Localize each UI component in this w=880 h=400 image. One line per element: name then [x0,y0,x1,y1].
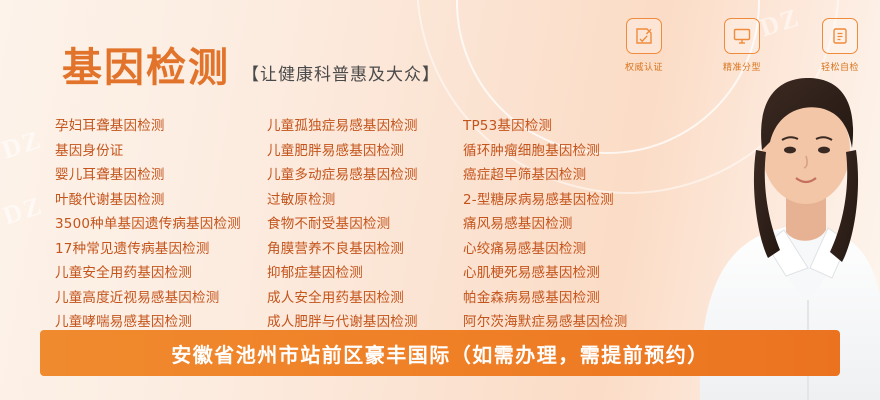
badge-item: 权威认证 [612,18,676,73]
list-item: 帕金森病易感基因检测 [463,286,675,311]
service-list: 孕妇耳聋基因检测 基因身份证 婴儿耳聋基因检测 叶酸代谢基因检测 3500种单基… [55,114,675,359]
list-item: TP53基因检测 [463,114,675,139]
badge-label: 轻松自检 [808,60,872,73]
list-item: 抑郁症基因检测 [267,261,463,286]
poster-canvas: DZ DZ DZ DZ 基因检测 【让健康科普惠及大众】 权威认证 [0,0,880,400]
badge-label: 精准分型 [710,60,774,73]
list-item: 角膜营养不良基因检测 [267,237,463,262]
list-item: 儿童孤独症易感基因检测 [267,114,463,139]
address-text: 安徽省池州市站前区豪丰国际（如需办理，需提前预约） [171,339,709,368]
page-subtitle: 【让健康科普惠及大众】 [242,60,440,88]
list-item: 叶酸代谢基因检测 [55,188,267,213]
page-title: 基因检测 [62,48,230,88]
list-item: 过敏原检测 [267,188,463,213]
badge-item: 轻松自检 [808,18,872,73]
list-item: 成人安全用药基因检测 [267,286,463,311]
service-column-2: 儿童孤独症易感基因检测 儿童肥胖易感基因检测 儿童多动症易感基因检测 过敏原检测… [267,114,463,359]
list-item: 3500种单基因遗传病基因检测 [55,212,267,237]
list-item: 痛风易感基因检测 [463,212,675,237]
clipboard-check-icon [822,18,858,54]
list-item: 心绞痛易感基因检测 [463,237,675,262]
list-item: 心肌梗死易感基因检测 [463,261,675,286]
certificate-icon [626,18,662,54]
list-item: 儿童多动症易感基因检测 [267,163,463,188]
list-item: 循环肿瘤细胞基因检测 [463,139,675,164]
list-item: 2-型糖尿病易感基因检测 [463,188,675,213]
watermark-text: DZ [0,125,46,166]
badge-group: 权威认证 精准分型 轻松自检 [612,18,872,73]
badge-item: 精准分型 [710,18,774,73]
address-banner: 安徽省池州市站前区豪丰国际（如需办理，需提前预约） [40,330,840,376]
watermark-text: DZ [0,191,47,232]
list-item: 17种常见遗传病基因检测 [55,237,267,262]
list-item: 儿童高度近视易感基因检测 [55,286,267,311]
monitor-icon [724,18,760,54]
service-column-1: 孕妇耳聋基因检测 基因身份证 婴儿耳聋基因检测 叶酸代谢基因检测 3500种单基… [55,114,267,359]
list-item: 儿童肥胖易感基因检测 [267,139,463,164]
list-item: 孕妇耳聋基因检测 [55,114,267,139]
service-column-3: TP53基因检测 循环肿瘤细胞基因检测 癌症超早筛基因检测 2-型糖尿病易感基因… [463,114,675,359]
badge-label: 权威认证 [612,60,676,73]
list-item: 癌症超早筛基因检测 [463,163,675,188]
list-item: 婴儿耳聋基因检测 [55,163,267,188]
list-item: 基因身份证 [55,139,267,164]
title-block: 基因检测 【让健康科普惠及大众】 [62,48,440,88]
list-item: 食物不耐受基因检测 [267,212,463,237]
list-item: 儿童安全用药基因检测 [55,261,267,286]
